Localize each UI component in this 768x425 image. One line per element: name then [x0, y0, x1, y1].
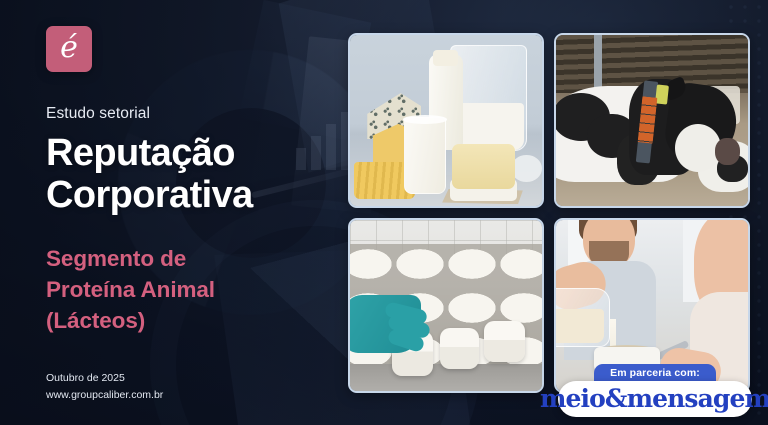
photo-gallery — [348, 33, 750, 393]
website-url[interactable]: www.groupcaliber.com.br — [46, 387, 163, 403]
page-title-line-1: Reputação — [46, 132, 330, 174]
gallery-card-dairy-products — [348, 33, 544, 208]
partner-label: Em parceria com: — [610, 367, 700, 379]
dairy-products-photo — [350, 35, 542, 206]
caliber-logo: é — [46, 26, 92, 72]
gallery-card-holstein-cow — [554, 33, 750, 208]
presentation-cover-slide: é Estudo setorial Reputação Corporativa … — [0, 0, 768, 425]
page-title-line-2: Corporativa — [46, 174, 330, 216]
partner-logo-plate: meio&mensagem — [558, 381, 752, 417]
page-title: Reputação Corporativa — [46, 132, 330, 216]
holstein-cow-photo — [556, 35, 748, 206]
title-column: é Estudo setorial Reputação Corporativa … — [0, 0, 348, 425]
partner-badge: Em parceria com: meio&mensagem — [558, 364, 752, 417]
kicker-label: Estudo setorial — [46, 105, 330, 123]
gallery-card-cheese-production — [348, 218, 544, 393]
cheese-production-photo — [350, 220, 542, 391]
publication-date: Outubro de 2025 — [46, 370, 163, 386]
page-subtitle-line-1: Segmento de — [46, 243, 330, 274]
footer-meta: Outubro de 2025 www.groupcaliber.com.br — [46, 370, 163, 403]
logo-glyph: é — [60, 33, 78, 63]
page-subtitle: Segmento de Proteína Animal (Lácteos) — [46, 243, 330, 336]
page-subtitle-line-3: (Lácteos) — [46, 305, 330, 336]
page-subtitle-line-2: Proteína Animal — [46, 274, 330, 305]
partner-label-pill: Em parceria com: — [594, 364, 716, 382]
meio-e-mensagem-logo: meio&mensagem — [540, 384, 768, 413]
